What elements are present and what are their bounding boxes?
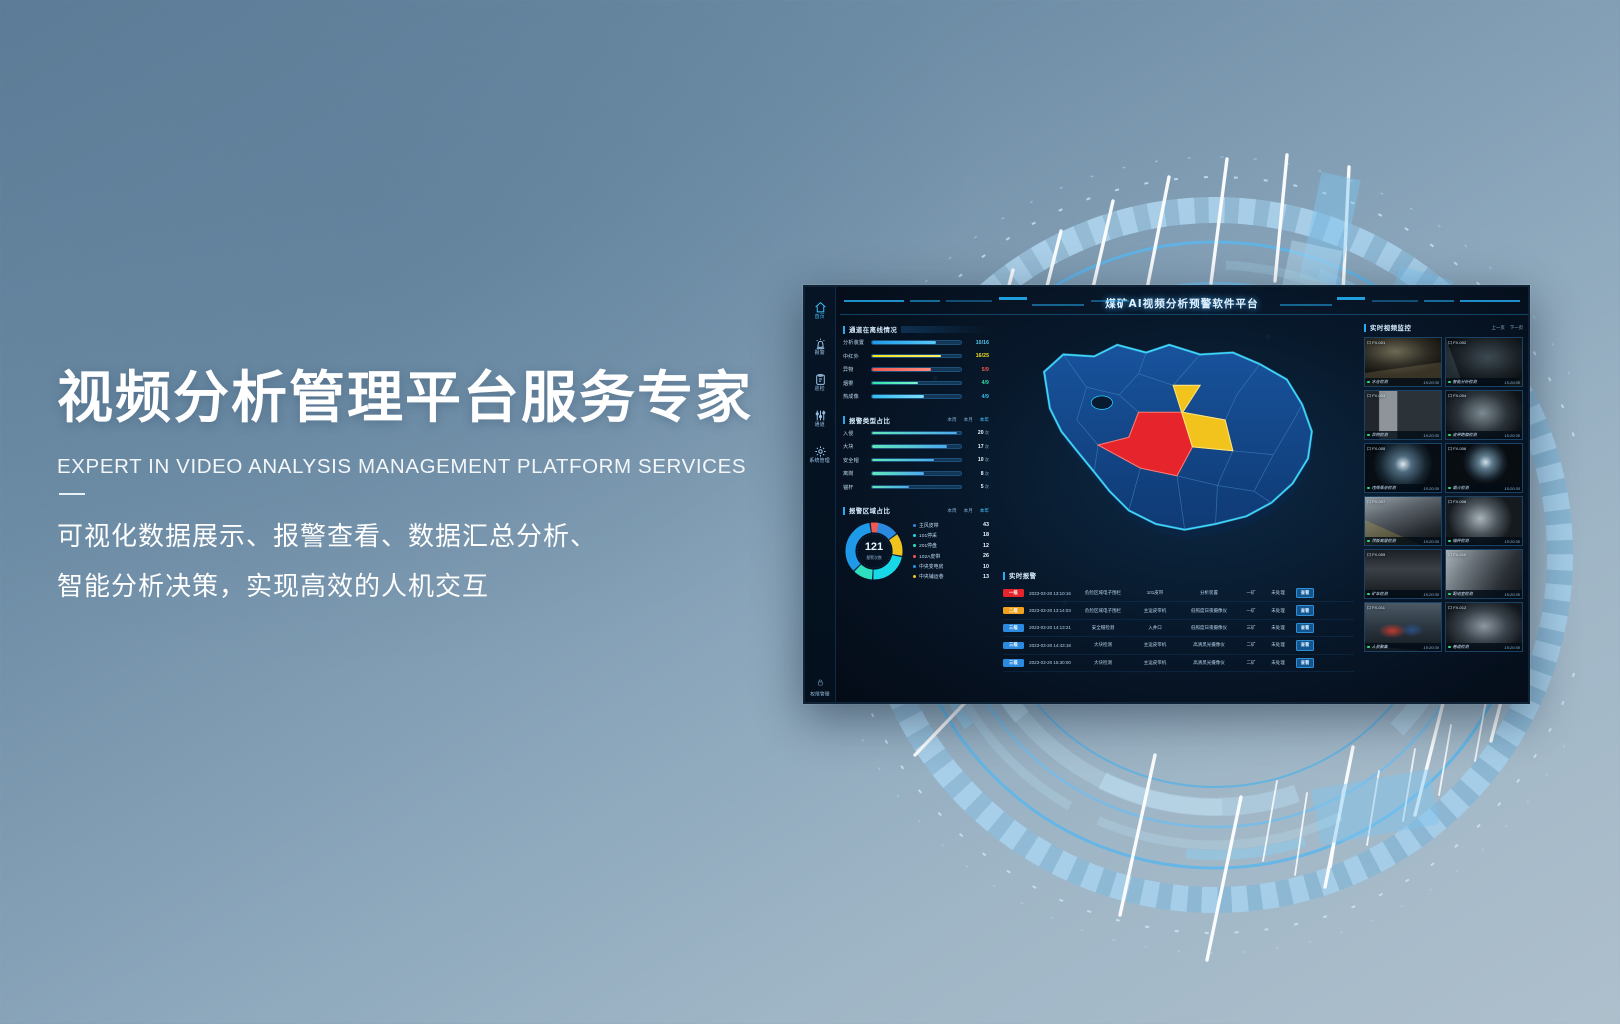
page-title: 视频分析管理平台服务专家 (57, 368, 817, 431)
alarm-areas-title: 报警区域占比 (849, 506, 890, 515)
channel-label: 烟雾 (843, 380, 867, 387)
donut-center: 121 报警次数 (843, 520, 905, 582)
tab-week[interactable]: 本周 (947, 417, 956, 423)
video-time: 15:20:30 (1423, 592, 1439, 597)
video-time: 15:20:30 (1423, 433, 1439, 438)
view-button[interactable]: 查看 (1296, 588, 1313, 598)
video-statusbar: 异物检测 15:20:30 (1365, 431, 1441, 439)
alarm-type-label: 离岗 (843, 470, 867, 477)
camera-id: 口 FX-006 (1448, 446, 1466, 452)
online-dot-icon (1367, 487, 1370, 490)
prev-page-button[interactable]: 上一页 (1492, 325, 1505, 331)
donut-legend: 主风皮带 43 101停采 18 201停盘 12 (911, 522, 989, 581)
donut-total: 121 (865, 542, 883, 553)
divider (59, 493, 85, 495)
channel-value: 10/16 (966, 340, 989, 346)
donut-caption: 报警次数 (866, 555, 882, 561)
table-row[interactable]: 三级 2023-03-20 15:30:00 大块检测 主运皮带机 高清黑光摄像… (1003, 655, 1354, 672)
video-statusbar: 巷道检测 15:20:30 (1446, 643, 1522, 651)
online-dot-icon (1367, 434, 1370, 437)
video-tile[interactable]: 口 FX-007 顶板离层检测 15:20:30 (1364, 496, 1442, 546)
dashboard-monitor: 首页 报警 巡检 通道 (803, 285, 1530, 704)
legend-dot (913, 524, 916, 527)
sidebar-label-alarm: 报警 (815, 350, 825, 357)
center-column: 实时报警 一级 2023-03-20 13:10:16 危险区域电子围栏 101… (994, 319, 1360, 702)
video-tile[interactable]: 口 FX-009 矿车检测 15:20:30 (1364, 549, 1442, 599)
alarm-type-label: 锚杆 (843, 484, 867, 491)
video-tile[interactable]: 口 FX-012 巷道检测 15:20:30 (1445, 602, 1523, 652)
alarm-location: 主运皮带机 (1130, 660, 1180, 666)
channel-progress-track (871, 394, 962, 399)
sidebar-label-home: 首页 (815, 314, 825, 321)
video-label: 智能分析检测 (1453, 379, 1505, 385)
video-label: 锚杆检测 (1453, 538, 1505, 544)
channel-status-row: 烟雾 4/9 (843, 380, 989, 387)
sidebar-item-system[interactable]: 系统管理 (812, 445, 827, 464)
alarm-location: 主运皮带机 (1130, 608, 1180, 614)
camera-id: 口 FX-003 (1367, 393, 1385, 399)
alarm-location: 101皮带 (1130, 590, 1180, 596)
dashboard-content: 通道在离线情况 分析装置 10/16 中红外 16/25 异 (836, 319, 1528, 702)
region-map[interactable] (994, 321, 1360, 569)
description-line-2: 智能分析决策，实现高效的人机交互 (57, 561, 817, 612)
legend-label: 201停盘 (919, 542, 980, 549)
channel-status-title: 通道在离线情况 (849, 325, 897, 334)
online-dot-icon (1448, 646, 1451, 649)
sidebar-item-home[interactable]: 首页 (814, 301, 827, 320)
online-dot-icon (1367, 540, 1370, 543)
title-accent-bar (843, 326, 845, 334)
dashboard-screen: 首页 报警 巡检 通道 (805, 287, 1528, 702)
video-tile[interactable]: 口 FX-011 人员聚集 15:20:30 (1364, 602, 1442, 652)
alarm-action-cell: 查看 (1292, 605, 1318, 615)
alarm-device: 高清黑光摄像仪 (1180, 660, 1238, 666)
alarm-location: 入井口 (1130, 625, 1180, 631)
online-dot-icon (1367, 646, 1370, 649)
camera-id: 口 FX-004 (1448, 393, 1466, 399)
alarm-mine: 三矿 (1238, 625, 1264, 631)
alarm-mine: 一矿 (1238, 608, 1264, 614)
legend-dot (913, 555, 916, 558)
legend-item: 主风皮带 43 (913, 522, 989, 529)
video-statusbar: 配电室检测 15:20:30 (1446, 590, 1522, 598)
camera-id: 口 FX-012 (1448, 605, 1466, 611)
alarm-type: 大块检测 (1076, 660, 1130, 666)
alarm-type-track (871, 471, 962, 476)
legend-value: 12 (983, 543, 989, 549)
video-time: 15:20:30 (1423, 539, 1439, 544)
sidebar-label-permissions: 权限管理 (810, 690, 829, 697)
video-label: 矿车检测 (1372, 591, 1424, 597)
alarm-time: 2023-03-20 14:43:18 (1024, 643, 1076, 648)
video-statusbar: 顶板离层检测 15:20:30 (1365, 537, 1441, 545)
video-label: 皮带跑偏检测 (1453, 432, 1505, 438)
video-monitor-title: 实时视频监控 (1370, 323, 1411, 332)
alarm-types-header: 报警类型占比 本周 本月 本年 (843, 416, 989, 425)
spacer (843, 497, 989, 506)
alarm-mine: 二矿 (1238, 660, 1264, 666)
legend-dot (913, 575, 916, 578)
camera-id: 口 FX-011 (1367, 605, 1385, 611)
legend-label: 主风皮带 (919, 522, 980, 529)
video-statusbar: 违规乘坐检测 15:20:30 (1365, 484, 1441, 492)
video-time: 15:20:30 (1423, 645, 1439, 650)
channel-progress-track (871, 354, 962, 359)
video-label: 人员聚集 (1372, 644, 1424, 650)
video-statusbar: 水仓检测 15:20:30 (1365, 378, 1441, 386)
alarm-level-badge: 三级 (1003, 642, 1024, 650)
description-line-1: 可视化数据展示、报警查看、数据汇总分析、 (57, 511, 817, 562)
legend-label: 中央辅运巷 (919, 573, 980, 580)
alarm-time: 2023-03-20 15:30:00 (1024, 660, 1076, 665)
legend-value: 18 (983, 532, 989, 538)
title-accent-bar (1364, 324, 1366, 332)
alarm-level-badge: 二级 (1003, 607, 1024, 615)
channel-status-row: 热成像 4/9 (843, 393, 989, 400)
alarm-mine: 一矿 (1238, 590, 1264, 596)
dashboard-sidebar: 首页 报警 巡检 通道 (805, 287, 836, 702)
clipboard-icon (814, 373, 827, 386)
video-time: 15:20:30 (1504, 433, 1520, 438)
channel-progress-track (871, 367, 962, 372)
marketing-copy: 视频分析管理平台服务专家 EXPERT IN VIDEO ANALYSIS MA… (57, 368, 817, 612)
video-statusbar: 人员聚集 15:20:30 (1365, 643, 1441, 651)
video-statusbar: 烟火检测 15:20:30 (1446, 484, 1522, 492)
video-label: 烟火检测 (1453, 485, 1505, 491)
tab-month[interactable]: 本月 (964, 508, 973, 514)
alarm-status: 未处理 (1264, 642, 1292, 648)
realtime-alarm-header: 实时报警 (1003, 571, 1354, 580)
alarm-table: 一级 2023-03-20 13:10:16 危险区域电子围栏 101皮带 分析… (1003, 585, 1354, 672)
view-button[interactable]: 查看 (1296, 640, 1313, 650)
alarm-type-row: 入侵 20次 (843, 430, 989, 437)
channel-label: 分析装置 (843, 339, 867, 346)
sidebar-item-channel[interactable]: 通道 (814, 409, 827, 428)
alarm-type-track (871, 431, 962, 436)
online-dot-icon (1367, 593, 1370, 596)
lock-icon (817, 673, 824, 690)
alarm-action-cell: 查看 (1292, 623, 1318, 633)
channel-value: 4/9 (966, 380, 989, 386)
video-tile[interactable]: 口 FX-005 违规乘坐检测 15:20:30 (1364, 443, 1442, 493)
alarm-action-cell: 查看 (1292, 658, 1318, 668)
video-time: 15:20:30 (1504, 539, 1520, 544)
realtime-alarm-title: 实时报警 (1009, 571, 1037, 580)
alarm-time: 2023-03-20 13:14:03 (1024, 608, 1076, 613)
tab-week[interactable]: 本周 (947, 508, 956, 514)
video-statusbar: 锚杆检测 15:20:30 (1446, 537, 1522, 545)
video-time: 15:20:30 (1504, 592, 1520, 597)
video-tile[interactable]: 口 FX-003 异物检测 15:20:30 (1364, 390, 1442, 440)
sidebar-item-alarm[interactable]: 报警 (814, 337, 827, 356)
alarm-type-row: 锚杆 5次 (843, 484, 989, 491)
channel-label: 热成像 (843, 393, 867, 400)
sidebar-item-inspection[interactable]: 巡检 (814, 373, 827, 392)
video-statusbar: 矿车检测 15:20:30 (1365, 590, 1441, 598)
alarm-type-value: 10次 (966, 457, 989, 463)
legend-item: 101停采 18 (913, 532, 989, 539)
video-tile[interactable]: 口 FX-001 水仓检测 15:20:30 (1364, 337, 1442, 387)
alarm-types-bars: 入侵 20次 大块 17次 安全帽 10次 离 (843, 430, 989, 491)
table-row[interactable]: 一级 2023-03-20 13:10:16 危险区域电子围栏 101皮带 分析… (1003, 585, 1354, 602)
alarm-level-badge: 一级 (1003, 589, 1024, 597)
alarm-type-row: 安全帽 10次 (843, 457, 989, 464)
camera-id: 口 FX-002 (1448, 340, 1466, 346)
alarm-type-value: 17次 (966, 444, 989, 450)
view-button[interactable]: 查看 (1296, 605, 1313, 615)
video-label: 配电室检测 (1453, 591, 1505, 597)
channel-progress-track (871, 381, 962, 386)
left-panel-column: 通道在离线情况 分析装置 10/16 中红外 16/25 异 (836, 319, 994, 702)
donut-chart: 121 报警次数 (843, 520, 905, 582)
channel-value: 4/9 (966, 394, 989, 400)
alarm-type-value: 5次 (966, 484, 989, 490)
title-accent-bar (843, 416, 845, 424)
legend-item: 中央辅运巷 13 (913, 573, 989, 580)
alarm-areas-header: 报警区域占比 本周 本月 本年 (843, 506, 989, 515)
channel-label: 中红外 (843, 353, 867, 360)
alarm-types-tabs: 本周 本月 本年 (947, 417, 989, 423)
video-tile[interactable]: 口 FX-008 锚杆检测 15:20:30 (1445, 496, 1523, 546)
legend-value: 10 (983, 564, 989, 570)
alarm-level-badge: 三级 (1003, 624, 1024, 632)
video-label: 违规乘坐检测 (1372, 485, 1424, 491)
alarm-status: 未处理 (1264, 608, 1292, 614)
legend-value: 13 (983, 574, 989, 580)
alarm-type-row: 大块 17次 (843, 443, 989, 450)
alarm-type: 安全帽检测 (1076, 625, 1130, 631)
legend-label: 101停采 (919, 532, 980, 539)
camera-id: 口 FX-009 (1367, 552, 1385, 558)
alarm-type-track (871, 444, 962, 449)
sidebar-item-permissions[interactable]: 权限管理 (813, 673, 827, 696)
online-dot-icon (1448, 434, 1451, 437)
alarm-location: 主运皮带机 (1130, 642, 1180, 648)
video-monitor-header: 实时视频监控 上一页 下一页 (1364, 323, 1523, 332)
alarm-status: 未处理 (1264, 590, 1292, 596)
video-tile[interactable]: 口 FX-004 皮带跑偏检测 15:20:30 (1445, 390, 1523, 440)
gear-icon (814, 445, 827, 458)
channel-status-row: 异物 5/9 (843, 366, 989, 373)
spacer (843, 407, 989, 416)
alarm-type-track (871, 458, 962, 463)
video-label: 顶板离层检测 (1372, 538, 1424, 544)
title-accent-bar (843, 507, 845, 515)
video-tile[interactable]: 口 FX-010 配电室检测 15:20:30 (1445, 549, 1523, 599)
alarm-time: 2023-03-20 14:13:21 (1024, 625, 1076, 630)
video-time: 15:20:30 (1423, 380, 1439, 385)
channel-value: 5/9 (966, 367, 989, 373)
tab-year[interactable]: 本年 (980, 417, 989, 423)
alarm-action-cell: 查看 (1292, 640, 1318, 650)
alarm-status: 未处理 (1264, 625, 1292, 631)
title-accent-bar (1003, 572, 1005, 580)
video-tile[interactable]: 口 FX-002 智能分析检测 15:20:30 (1445, 337, 1523, 387)
legend-label: 102A皮带 (919, 553, 980, 560)
camera-id: 口 FX-005 (1367, 446, 1385, 452)
alarm-areas-chart: 121 报警次数 主风皮带 43 101停采 18 (843, 520, 989, 582)
alarm-type-value: 20次 (966, 430, 989, 436)
online-dot-icon (1448, 540, 1451, 543)
alarm-types-title: 报警类型占比 (849, 416, 890, 425)
view-button[interactable]: 查看 (1296, 623, 1313, 633)
video-pager: 上一页 下一页 (1492, 325, 1523, 331)
table-row[interactable]: 三级 2023-03-20 14:43:18 大块检测 主运皮带机 高清黑光摄像… (1003, 637, 1354, 654)
video-statusbar: 智能分析检测 15:20:30 (1446, 378, 1522, 386)
legend-dot (913, 565, 916, 568)
channel-status-header: 通道在离线情况 (843, 325, 989, 334)
page-subtitle: EXPERT IN VIDEO ANALYSIS MANAGEMENT PLAT… (57, 455, 817, 479)
alarm-status: 未处理 (1264, 660, 1292, 666)
alarm-type: 大块检测 (1076, 642, 1130, 648)
channel-value: 16/25 (966, 353, 989, 359)
online-dot-icon (1367, 381, 1370, 384)
video-label: 异物检测 (1372, 432, 1424, 438)
view-button[interactable]: 查看 (1296, 658, 1313, 668)
legend-label: 中央变电房 (919, 563, 980, 570)
next-page-button[interactable]: 下一页 (1510, 325, 1523, 331)
sidebar-label-system: 系统管理 (810, 458, 831, 465)
camera-id: 口 FX-008 (1448, 499, 1466, 505)
realtime-alarm-panel: 实时报警 一级 2023-03-20 13:10:16 危险区域电子围栏 101… (1003, 571, 1354, 699)
alarm-device: 高清黑光摄像仪 (1180, 642, 1238, 648)
camera-id: 口 FX-010 (1448, 552, 1466, 558)
legend-value: 43 (983, 522, 989, 528)
online-dot-icon (1448, 381, 1451, 384)
home-icon (814, 301, 827, 314)
sidebar-label-channel: 通道 (815, 422, 825, 429)
alarm-type-label: 大块 (843, 443, 867, 450)
video-statusbar: 皮带跑偏检测 15:20:30 (1446, 431, 1522, 439)
video-time: 15:20:30 (1504, 380, 1520, 385)
online-dot-icon (1448, 593, 1451, 596)
channel-progress-track (871, 340, 962, 345)
legend-item: 201停盘 12 (913, 542, 989, 549)
legend-dot (913, 544, 916, 547)
alarm-device: 分析装置 (1180, 590, 1238, 596)
camera-id: 口 FX-007 (1367, 499, 1385, 505)
tab-year[interactable]: 本年 (980, 508, 989, 514)
legend-item: 102A皮带 26 (913, 553, 989, 560)
alarm-action-cell: 查看 (1292, 588, 1318, 598)
alarm-device: 低照度日夜摄像仪 (1180, 608, 1238, 614)
legend-item: 中央变电房 10 (913, 563, 989, 570)
title-strip (901, 326, 989, 333)
alarm-type: 危险区域电子围栏 (1076, 590, 1130, 596)
camera-id: 口 FX-001 (1367, 340, 1385, 346)
dashboard-header: 煤矿AI视频分析预警软件平台 (836, 287, 1528, 319)
alarm-mine: 二矿 (1238, 642, 1264, 648)
video-tile[interactable]: 口 FX-006 烟火检测 15:20:30 (1445, 443, 1523, 493)
video-label: 巷道检测 (1453, 644, 1505, 650)
alarm-type-label: 安全帽 (843, 457, 867, 464)
alarm-device: 低照度日夜摄像仪 (1180, 625, 1238, 631)
video-monitor-column: 实时视频监控 上一页 下一页 口 FX-001 水仓检测 1 (1360, 319, 1528, 702)
tab-month[interactable]: 本月 (964, 417, 973, 423)
video-time: 15:20:30 (1504, 486, 1520, 491)
online-dot-icon (1448, 487, 1451, 490)
channel-status-row: 分析装置 10/16 (843, 339, 989, 346)
alarm-type-label: 入侵 (843, 430, 867, 437)
video-time: 15:20:30 (1423, 486, 1439, 491)
table-row[interactable]: 三级 2023-03-20 14:13:21 安全帽检测 入井口 低照度日夜摄像… (1003, 620, 1354, 637)
video-grid: 口 FX-001 水仓检测 15:20:30 口 FX-002 (1364, 337, 1523, 652)
alarm-type-value: 8次 (966, 471, 989, 477)
alarm-type: 危险区域电子围栏 (1076, 608, 1130, 614)
alarm-areas-tabs: 本周 本月 本年 (947, 508, 989, 514)
channel-label: 异物 (843, 366, 867, 373)
alarm-type-track (871, 485, 962, 490)
alarm-type-row: 离岗 8次 (843, 470, 989, 477)
sliders-icon (814, 409, 827, 422)
alarm-light-icon (814, 337, 827, 350)
legend-value: 26 (983, 553, 989, 559)
legend-dot (913, 534, 916, 537)
table-row[interactable]: 二级 2023-03-20 13:14:03 危险区域电子围栏 主运皮带机 低照… (1003, 602, 1354, 619)
alarm-time: 2023-03-20 13:10:16 (1024, 591, 1076, 596)
alarm-level-badge: 三级 (1003, 659, 1024, 667)
channel-status-row: 中红外 16/25 (843, 353, 989, 360)
video-label: 水仓检测 (1372, 379, 1424, 385)
sidebar-label-inspection: 巡检 (815, 386, 825, 393)
channel-status-bars: 分析装置 10/16 中红外 16/25 异物 5/9 (843, 339, 989, 400)
header-decoration (836, 287, 1528, 319)
video-time: 15:20:30 (1504, 645, 1520, 650)
